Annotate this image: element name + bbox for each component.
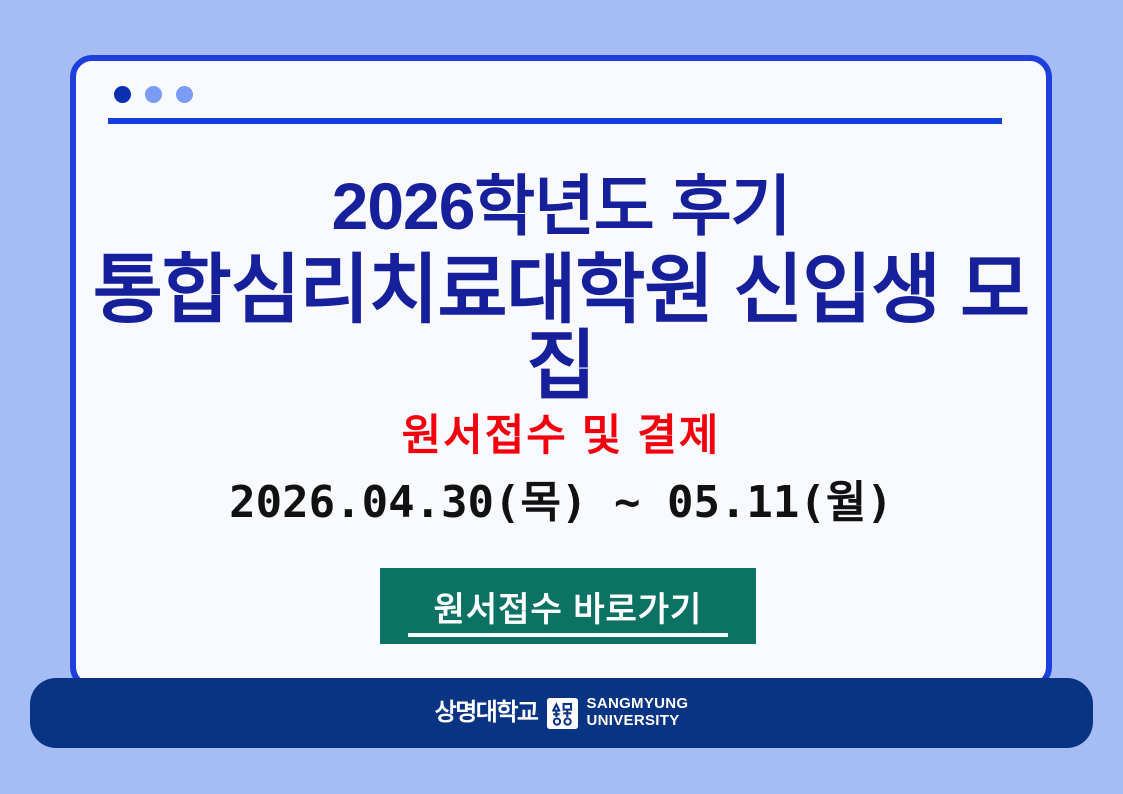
headline-line-2: 통합심리치료대학원 신입생 모집 (76, 253, 1046, 405)
university-logo-english-line-2: UNIVERSITY (587, 712, 680, 729)
university-logo-english: SANGMYUNG UNIVERSITY (587, 696, 689, 730)
apply-now-button-label: 원서접수 바로가기 (380, 568, 756, 631)
application-date-range: 2026.04.30(목) ~ 05.11(월) (76, 466, 1046, 530)
apply-now-underline (408, 633, 728, 637)
subtitle-application-payment: 원서접수 및 결제 (76, 401, 1046, 463)
admissions-banner: 2026학년도 후기 통합심리치료대학원 신입생 모집 원서접수 및 결제 20… (0, 0, 1123, 794)
headline-line-1: 2026학년도 후기 (76, 173, 1046, 239)
card-content: 2026학년도 후기 통합심리치료대학원 신입생 모집 원서접수 및 결제 20… (76, 61, 1046, 683)
apply-now-button[interactable]: 원서접수 바로가기 (380, 568, 756, 644)
footer-bar: 상명대학교 (30, 678, 1093, 748)
browser-card: 2026학년도 후기 통합심리치료대학원 신입생 모집 원서접수 및 결제 20… (70, 55, 1052, 689)
sangmyung-emblem-icon (547, 698, 578, 729)
page-title: 2026학년도 후기 통합심리치료대학원 신입생 모집 (76, 173, 1046, 405)
university-logo: 상명대학교 (435, 696, 689, 730)
university-logo-english-line-1: SANGMYUNG (587, 695, 689, 712)
university-logo-korean: 상명대학교 (435, 701, 538, 725)
